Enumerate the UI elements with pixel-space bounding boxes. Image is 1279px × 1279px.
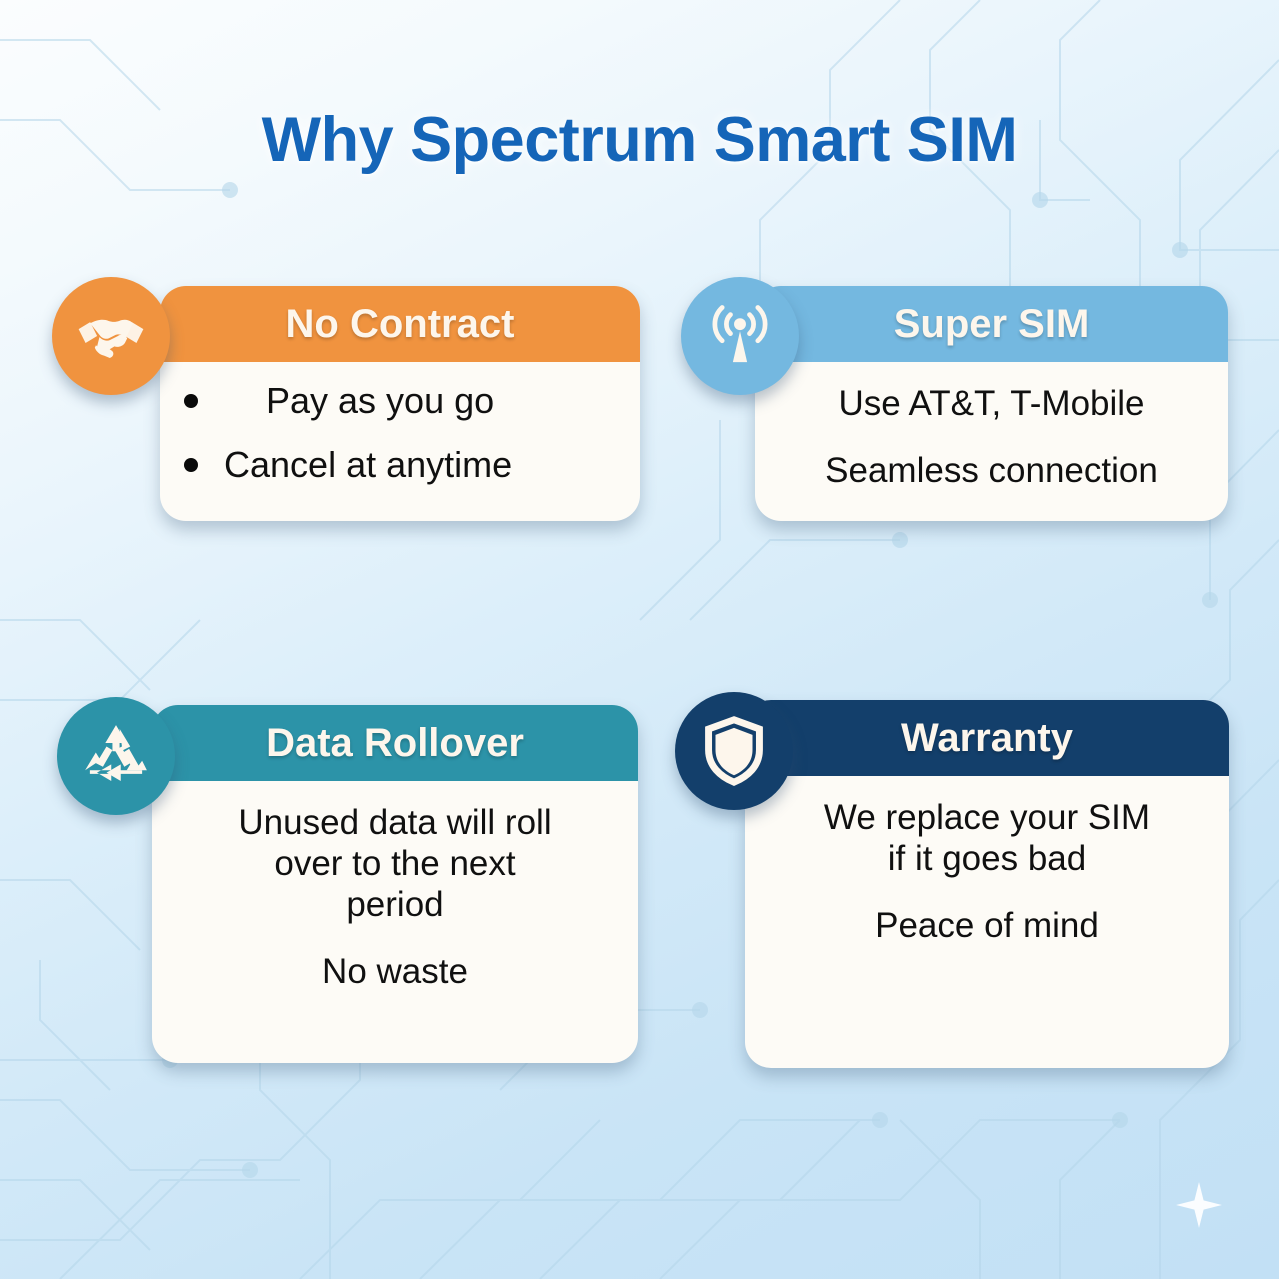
card-text-line: Use AT&T, T-Mobile [769,384,1214,425]
sparkle-icon [1176,1182,1222,1228]
card-text-line: Unused data will roll [178,803,612,844]
card-text-line: over to the next [178,844,612,885]
card-title: Super SIM [894,302,1090,347]
recycle-icon [57,697,175,815]
card-text-line: period [178,885,612,926]
spacer [178,926,612,952]
card-text-line: if it goes bad [763,839,1211,880]
card-title: Data Rollover [266,721,524,766]
card-title: No Contract [286,302,515,347]
card-title: Warranty [901,716,1073,761]
list-item: Pay as you go [184,380,616,422]
infographic-poster: Why Spectrum Smart SIM No Contract Pay a… [0,0,1279,1279]
shield-icon [675,692,793,810]
spacer [763,880,1211,906]
list-item: Cancel at anytime [184,444,616,486]
card-header-super-sim: Super SIM [755,286,1228,362]
card-text-line: No waste [178,952,612,993]
list-item-label: Pay as you go [266,380,494,422]
feature-card-data-rollover[interactable]: Data Rollover Unused data will roll over… [152,705,638,1063]
bullet-dot-icon [184,394,198,408]
card-header-warranty: Warranty [745,700,1229,776]
circuit-pattern-background [0,0,1279,1279]
benefit-list: Pay as you go Cancel at anytime [184,362,616,508]
handshake-icon [52,277,170,395]
card-text-line: Seamless connection [769,451,1214,492]
card-header-no-contract: No Contract [160,286,640,362]
card-body-no-contract: Pay as you go Cancel at anytime [160,362,640,521]
card-header-data-rollover: Data Rollover [152,705,638,781]
card-text-line: We replace your SIM [763,798,1211,839]
card-body-data-rollover: Unused data will roll over to the next p… [152,781,638,1063]
card-body-warranty: We replace your SIM if it goes bad Peace… [745,776,1229,1068]
card-body-super-sim: Use AT&T, T-Mobile Seamless connection [755,362,1228,521]
spacer [769,425,1214,451]
page-title: Why Spectrum Smart SIM [0,104,1279,176]
feature-card-warranty[interactable]: Warranty We replace your SIM if it goes … [745,700,1229,1068]
bullet-dot-icon [184,458,198,472]
broadcast-antenna-icon [681,277,799,395]
card-text-line: Peace of mind [763,906,1211,947]
feature-card-super-sim[interactable]: Super SIM Use AT&T, T-Mobile Seamless co… [755,286,1228,521]
feature-card-no-contract[interactable]: No Contract Pay as you go Cancel at anyt… [160,286,640,521]
list-item-label: Cancel at anytime [224,444,512,486]
